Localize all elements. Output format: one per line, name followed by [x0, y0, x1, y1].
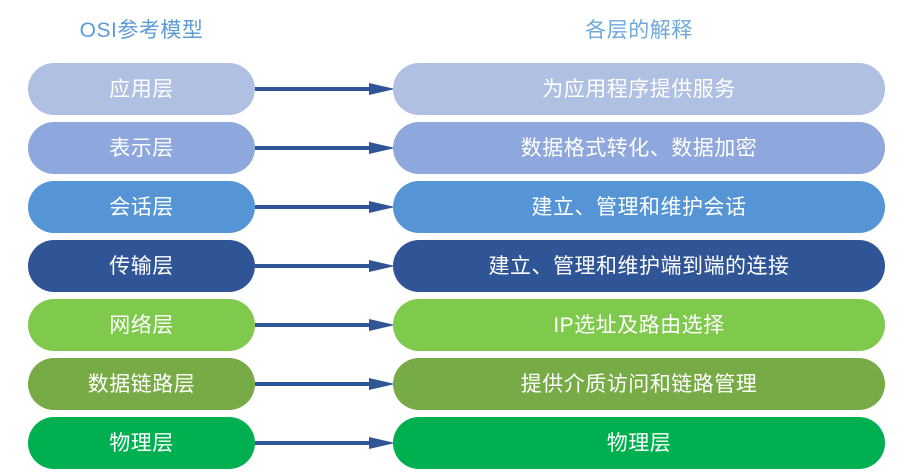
layer-name-pill-5[interactable]: 网络层	[28, 299, 255, 351]
layer-description-pill-5[interactable]: IP选址及路由选择	[393, 299, 885, 351]
layer-name-pill-3[interactable]: 会话层	[28, 181, 255, 233]
layer-description-label: 数据格式转化、数据加密	[521, 138, 758, 159]
right-arrow-icon-2	[255, 142, 395, 154]
layer-name-label: 会话层	[109, 197, 174, 218]
osi-model-diagram: OSI参考模型 各层的解释 应用层 为应用程序提供服务 表示层 数据格式转化、数…	[0, 0, 914, 475]
right-arrow-icon-7	[255, 437, 395, 449]
layer-description-pill-6[interactable]: 提供介质访问和链路管理	[393, 358, 885, 410]
layer-description-pill-1[interactable]: 为应用程序提供服务	[393, 63, 885, 115]
layer-description-pill-2[interactable]: 数据格式转化、数据加密	[393, 122, 885, 174]
layer-row-6: 数据链路层 提供介质访问和链路管理	[0, 358, 914, 410]
layer-row-1: 应用层 为应用程序提供服务	[0, 63, 914, 115]
layer-row-3: 会话层 建立、管理和维护会话	[0, 181, 914, 233]
layer-description-pill-4[interactable]: 建立、管理和维护端到端的连接	[393, 240, 885, 292]
column-header-osi-model: OSI参考模型	[28, 14, 255, 44]
layer-name-pill-4[interactable]: 传输层	[28, 240, 255, 292]
layer-description-label: 物理层	[607, 433, 672, 454]
column-header-layer-explanation: 各层的解释	[393, 14, 885, 44]
layer-description-label: 建立、管理和维护会话	[532, 197, 747, 218]
layer-name-label: 网络层	[109, 315, 174, 336]
layer-name-label: 表示层	[109, 138, 174, 159]
layer-name-pill-7[interactable]: 物理层	[28, 417, 255, 469]
layer-description-pill-3[interactable]: 建立、管理和维护会话	[393, 181, 885, 233]
layer-name-pill-2[interactable]: 表示层	[28, 122, 255, 174]
layer-description-label: 提供介质访问和链路管理	[521, 374, 758, 395]
layer-name-pill-6[interactable]: 数据链路层	[28, 358, 255, 410]
layer-description-pill-7[interactable]: 物理层	[393, 417, 885, 469]
layer-name-label: 应用层	[109, 79, 174, 100]
layer-name-pill-1[interactable]: 应用层	[28, 63, 255, 115]
layer-description-label: 为应用程序提供服务	[542, 79, 736, 100]
layer-name-label: 数据链路层	[88, 374, 196, 395]
right-arrow-icon-6	[255, 378, 395, 390]
layer-name-label: 传输层	[109, 256, 174, 277]
layer-row-2: 表示层 数据格式转化、数据加密	[0, 122, 914, 174]
layer-row-4: 传输层 建立、管理和维护端到端的连接	[0, 240, 914, 292]
layer-row-7: 物理层 物理层	[0, 417, 914, 469]
right-arrow-icon-5	[255, 319, 395, 331]
layer-description-label: 建立、管理和维护端到端的连接	[489, 256, 790, 277]
right-arrow-icon-3	[255, 201, 395, 213]
layer-description-label: IP选址及路由选择	[553, 315, 724, 336]
layer-name-label: 物理层	[109, 433, 174, 454]
right-arrow-icon-4	[255, 260, 395, 272]
layer-row-5: 网络层 IP选址及路由选择	[0, 299, 914, 351]
right-arrow-icon-1	[255, 83, 395, 95]
